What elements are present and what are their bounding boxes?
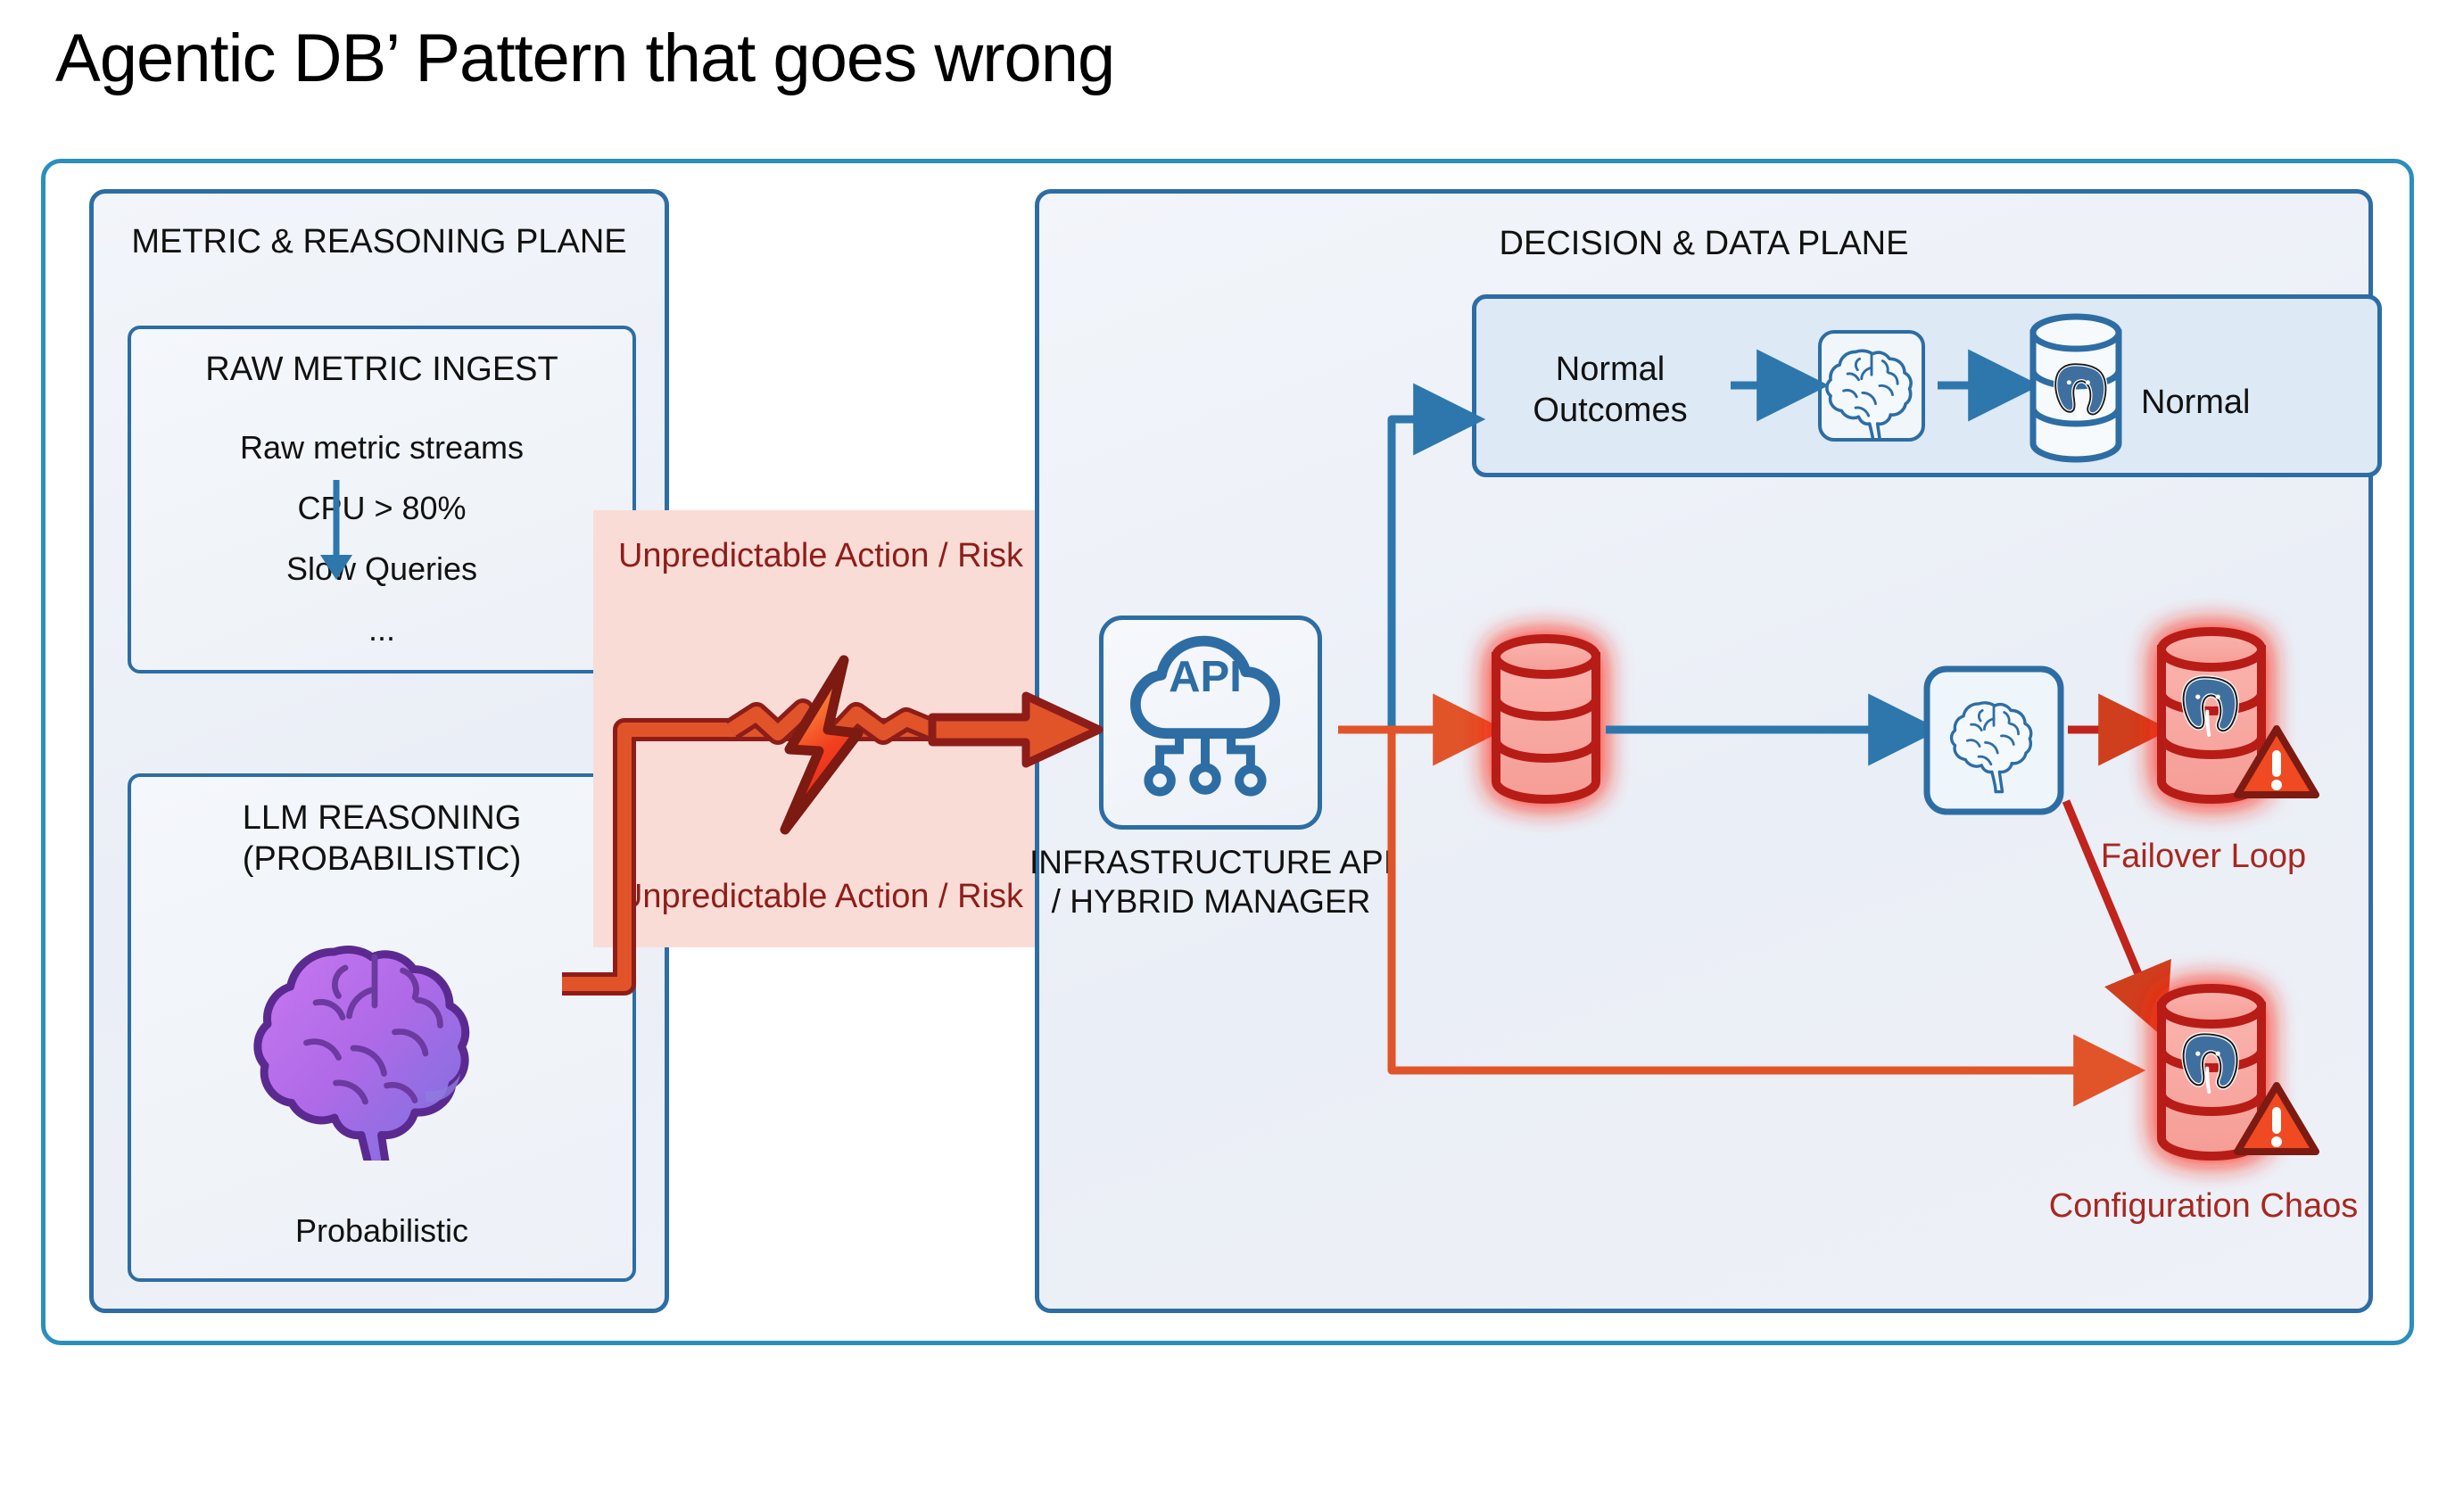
ingest-to-llm-arrow	[332, 480, 341, 580]
infrastructure-api-node[interactable]: API	[1099, 616, 1322, 830]
normal-brain-box	[1818, 330, 1925, 442]
llm-caption: Probabilistic	[131, 1212, 632, 1250]
configuration-chaos-label: Configuration Chaos	[2043, 1186, 2364, 1227]
normal-outcomes-label: Normal Outcomes	[1508, 350, 1713, 431]
ingest-line-2: Slow Queries	[131, 550, 632, 588]
ingest-line-0: Raw metric streams	[131, 429, 632, 467]
raw-metric-ingest-title: RAW METRIC INGEST	[131, 351, 632, 389]
unpredictable-risk-band: Unpredictable Action / Risk Unpredictabl…	[593, 510, 1048, 947]
failover-loop-label: Failover Loop	[2070, 837, 2337, 878]
ingest-line-1: CPU > 80%	[131, 490, 632, 527]
llm-reasoning-box: LLM REASONING (PROBABILISTIC)	[128, 773, 636, 1282]
risk-label-top: Unpredictable Action / Risk	[593, 535, 1048, 576]
llm-reasoning-title: LLM REASONING (PROBABILISTIC)	[131, 798, 632, 880]
svg-text:API: API	[1169, 653, 1242, 701]
metric-reasoning-plane-title: METRIC & REASONING PLANE	[94, 222, 665, 262]
brain-icon	[1822, 334, 1922, 438]
api-node-caption: INFRASTRUCTURE API / HYBRID MANAGER	[1026, 843, 1396, 921]
api-cloud-icon: API	[1104, 620, 1307, 814]
raw-metric-ingest-box: RAW METRIC INGEST Raw metric streams CPU…	[128, 326, 636, 673]
ingest-line-3: ...	[131, 611, 632, 649]
page-title: Agentic DB’ Pattern that goes wrong	[55, 20, 1114, 97]
metric-reasoning-plane-panel: METRIC & REASONING PLANE RAW METRIC INGE…	[89, 189, 669, 1313]
risk-label-bottom: Unpredictable Action / Risk	[593, 876, 1048, 917]
decision-data-plane-title: DECISION & DATA PLANE	[1039, 224, 2368, 264]
normal-result-label: Normal	[2141, 384, 2337, 422]
brain-icon	[252, 920, 519, 1161]
